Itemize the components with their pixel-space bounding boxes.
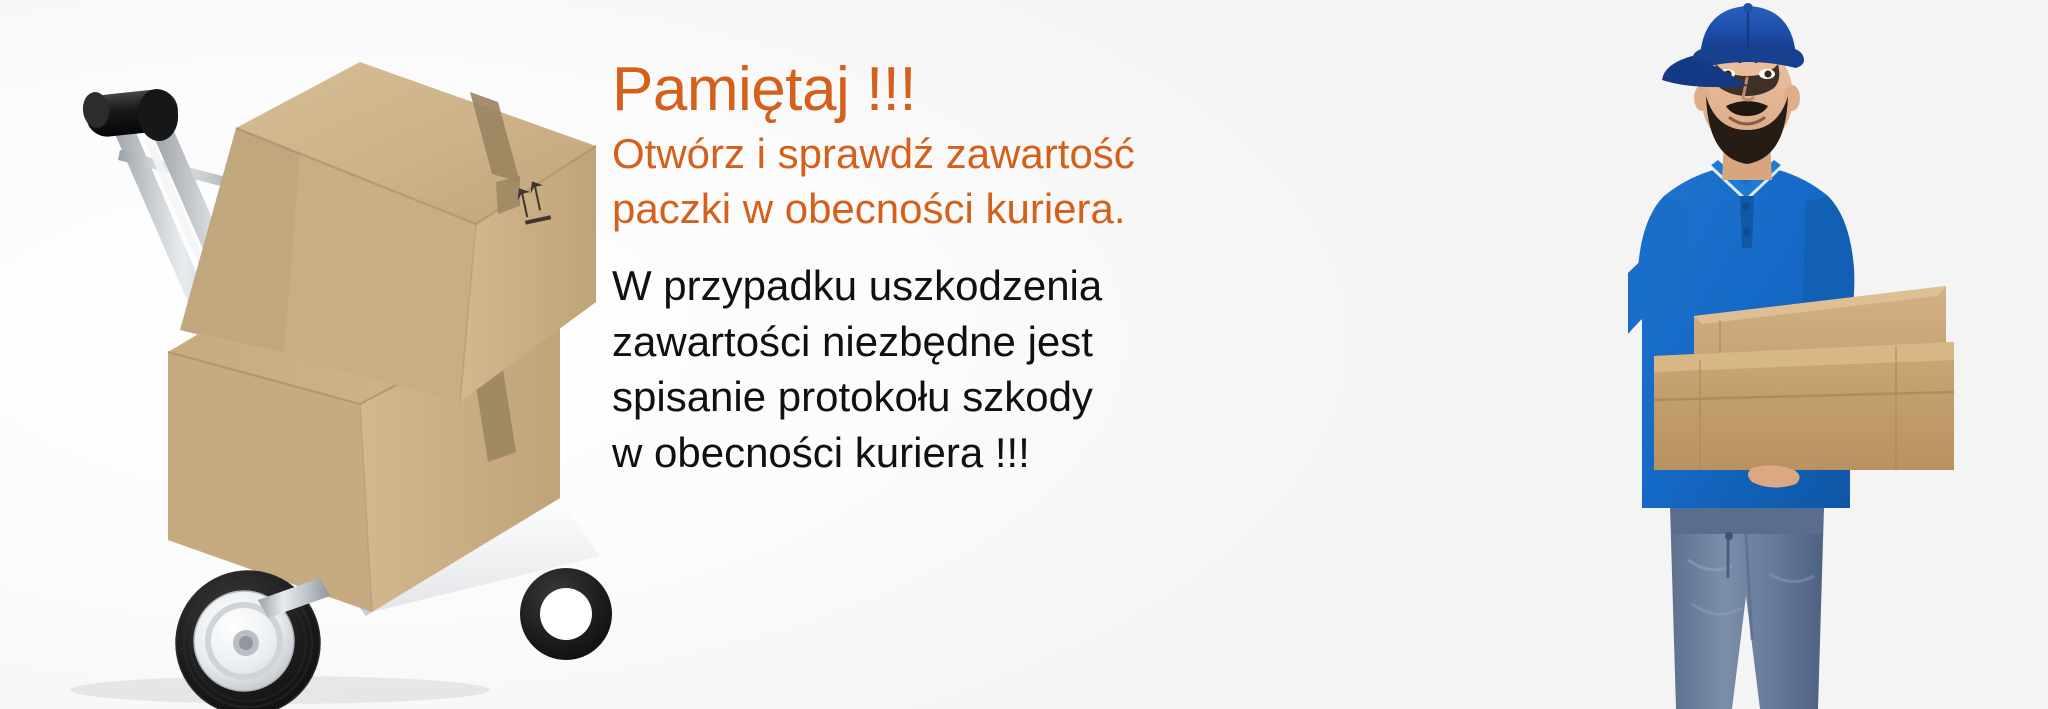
body-paragraph: W przypadku uszkodzenia zawartości niezb…: [612, 258, 1172, 480]
rear-wheel: [514, 568, 618, 660]
subline-1: Otwórz i sprawdź zawartość: [612, 127, 1172, 182]
jeans: [1670, 506, 1824, 709]
body-line-1: W przypadku uszkodzenia: [612, 258, 1172, 313]
delivery-notice-banner: Pamiętaj !!! Otwórz i sprawdź zawartość …: [0, 0, 2048, 709]
body-line-2: zawartości niezbędne jest: [612, 314, 1172, 369]
page-title: Pamiętaj !!!: [612, 58, 1172, 121]
body-line-4: w obecności kuriera !!!: [612, 425, 1172, 480]
notice-text-block: Pamiętaj !!! Otwórz i sprawdź zawartość …: [612, 58, 1172, 480]
body-line-3: spisanie protokołu szkody: [612, 369, 1172, 424]
courier-illustration: [1628, 0, 2048, 709]
subline-2: paczki w obecności kuriera.: [612, 182, 1172, 237]
hand-truck-illustration: [0, 0, 620, 709]
